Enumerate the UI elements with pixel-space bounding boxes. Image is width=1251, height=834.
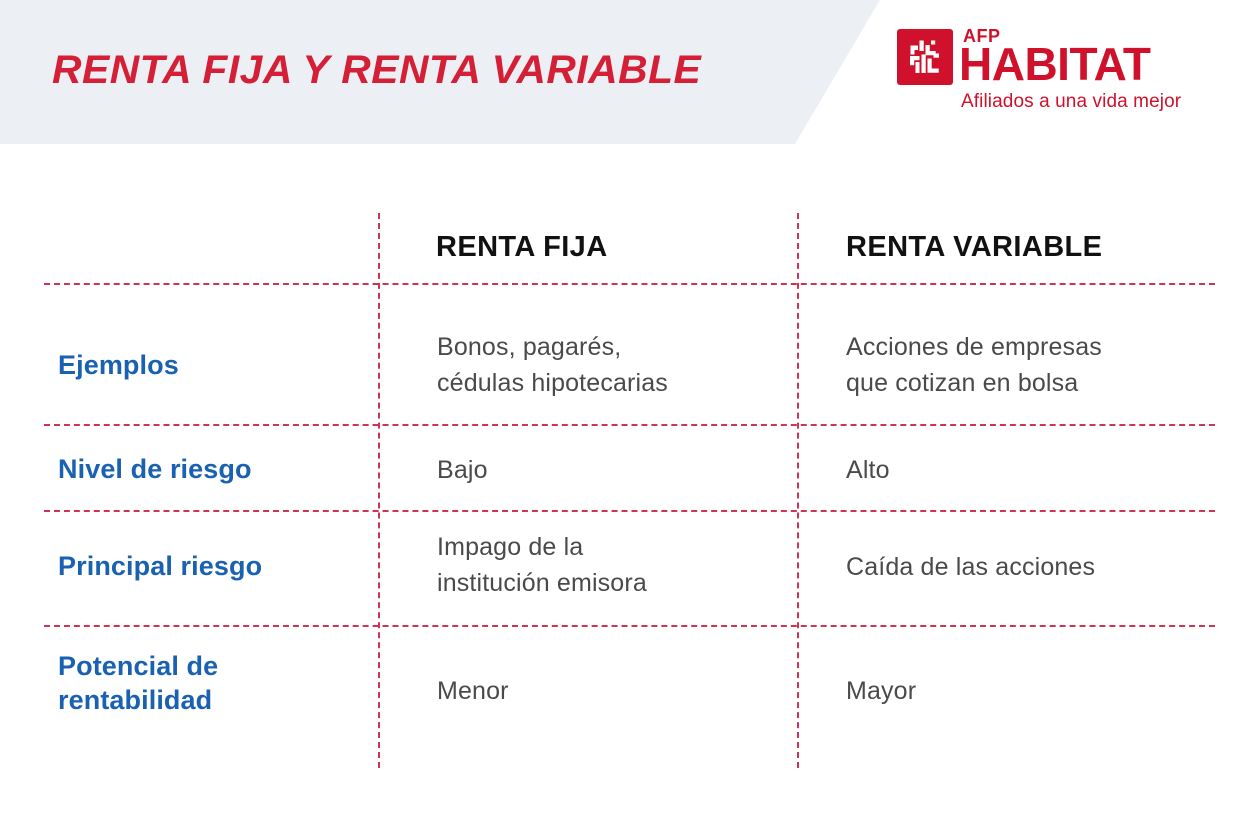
cell-line: Bonos, pagarés, (437, 329, 782, 365)
row-label-ejemplos: Ejemplos (58, 348, 368, 382)
cell-line: Impago de la (437, 529, 782, 565)
cell-line: que cotizan en bolsa (846, 365, 1214, 401)
cell-principal-riesgo-renta-fija: Impago de la institución emisora (437, 529, 782, 601)
cell-line: Menor (437, 673, 782, 709)
cell-line: Mayor (846, 673, 1214, 709)
row-label-potencial-de-rentabilidad: Potencial de rentabilidad (58, 649, 368, 717)
vertical-divider-1 (378, 213, 380, 768)
horizontal-divider-4 (44, 625, 1215, 627)
cell-ejemplos-renta-variable: Acciones de empresas que cotizan en bols… (846, 329, 1214, 401)
cell-line: Alto (846, 452, 1214, 488)
cell-principal-riesgo-renta-variable: Caída de las acciones (846, 549, 1214, 585)
horizontal-divider-3 (44, 510, 1215, 512)
horizontal-divider-1 (44, 283, 1215, 285)
horizontal-divider-2 (44, 424, 1215, 426)
vertical-divider-2 (797, 213, 799, 768)
cell-line: institución emisora (437, 565, 782, 601)
row-label-line: Potencial (58, 651, 179, 681)
cell-line: Acciones de empresas (846, 329, 1214, 365)
cell-nivel-riesgo-renta-fija: Bajo (437, 452, 782, 488)
column-header-renta-fija: RENTA FIJA (436, 228, 608, 266)
row-label-nivel-de-riesgo: Nivel de riesgo (58, 452, 368, 486)
comparison-table: RENTA FIJA RENTA VARIABLE Ejemplos Bonos… (0, 0, 1251, 834)
cell-line: cédulas hipotecarias (437, 365, 782, 401)
column-header-renta-variable: RENTA VARIABLE (846, 228, 1102, 266)
cell-potencial-renta-variable: Mayor (846, 673, 1214, 709)
row-label-principal-riesgo: Principal riesgo (58, 549, 368, 583)
cell-line: Caída de las acciones (846, 549, 1214, 585)
cell-ejemplos-renta-fija: Bonos, pagarés, cédulas hipotecarias (437, 329, 782, 401)
infographic-page: RENTA FIJA Y RENTA VARIABLE AFP HABITAT (0, 0, 1251, 834)
cell-nivel-riesgo-renta-variable: Alto (846, 452, 1214, 488)
cell-potencial-renta-fija: Menor (437, 673, 782, 709)
cell-line: Bajo (437, 452, 782, 488)
